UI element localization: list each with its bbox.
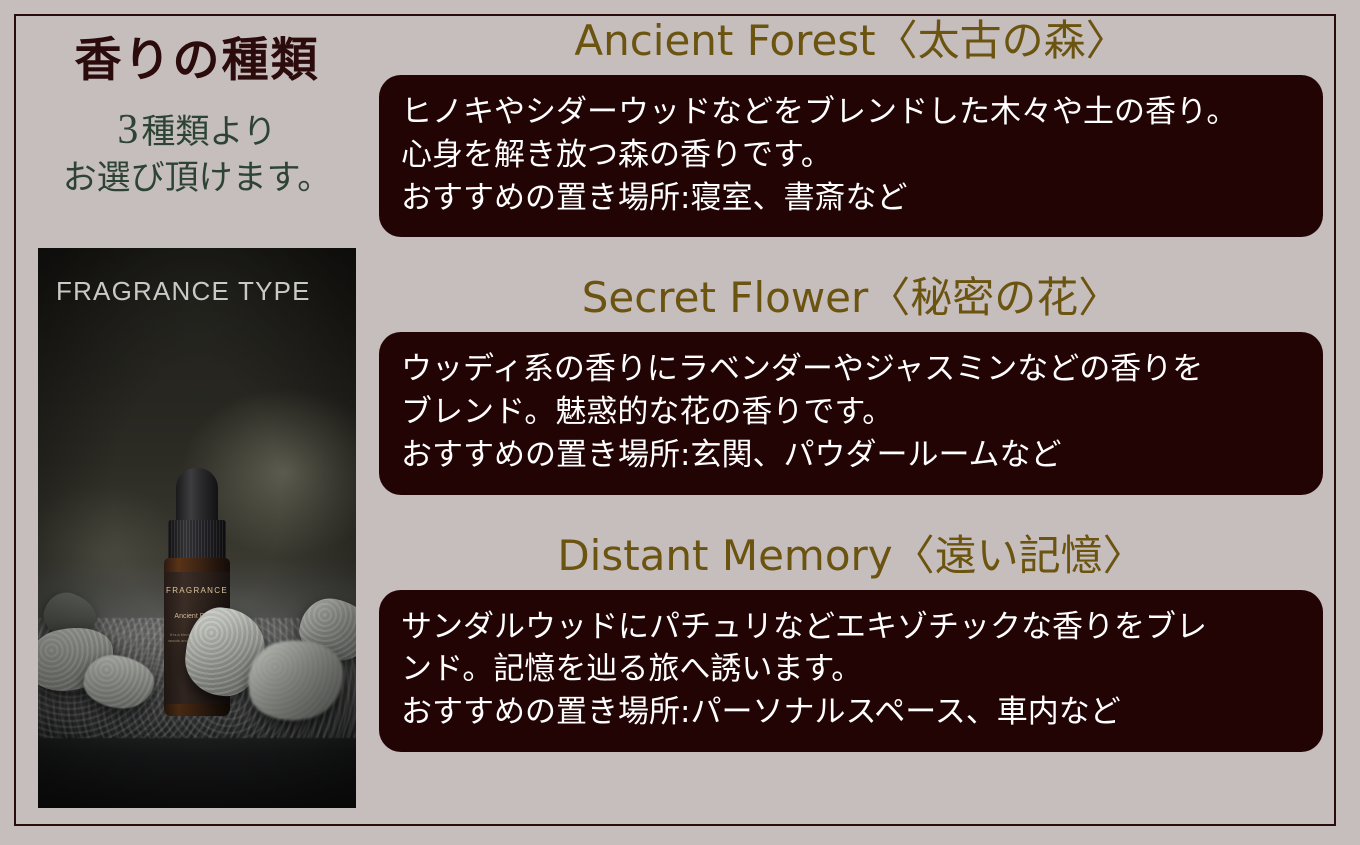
fragrance-heading: Distant Memory〈遠い記憶〉 <box>379 535 1323 577</box>
recommended-placement: おすすめの置き場所:寝室、書斎など <box>401 177 1301 220</box>
recommended-placement: おすすめの置き場所:パーソナルスペース、車内など <box>401 691 1301 734</box>
spacer <box>379 237 1323 277</box>
description-line: ブレンド。魅惑的な花の香りです。 <box>401 391 1301 434</box>
fragrance-type-infographic: 香りの種類 3種類より お選び頂けます。 FRAGRANCE Ancient F… <box>0 0 1360 845</box>
description-line: サンダルウッドにパチュリなどエキゾチックな香りをブレ <box>401 606 1301 649</box>
description-line: ヒノキやシダーウッドなどをブレンドした木々や土の香り。 <box>401 91 1301 134</box>
description-line: ウッディ系の香りにラベンダーやジャスミンなどの香りを <box>401 348 1301 391</box>
fragrance-list: Ancient Forest〈太古の森〉 ヒノキやシダーウッドなどをブレンドした… <box>379 20 1323 752</box>
fragrance-heading: Ancient Forest〈太古の森〉 <box>379 20 1323 62</box>
product-photo: FRAGRANCE Ancient Forest It is a blend o… <box>38 248 356 808</box>
subtitle-line-1: 3種類より <box>22 104 372 157</box>
fragrance-description-box: サンダルウッドにパチュリなどエキゾチックな香りをブレ ンド。記憶を辿る旅へ誘いま… <box>379 590 1323 752</box>
left-column: 香りの種類 3種類より お選び頂けます。 FRAGRANCE Ancient F… <box>22 20 372 820</box>
photo-overlay-label: FRAGRANCE TYPE <box>56 276 311 307</box>
variant-count: 3 <box>117 107 141 153</box>
recommended-placement: おすすめの置き場所:玄関、パウダールームなど <box>401 434 1301 477</box>
fragrance-description-box: ウッディ系の香りにラベンダーやジャスミンなどの香りを ブレンド。魅惑的な花の香り… <box>379 332 1323 494</box>
description-line: ンド。記憶を辿る旅へ誘います。 <box>401 648 1301 691</box>
fragrance-item-secret-flower: Secret Flower〈秘密の花〉 ウッディ系の香りにラベンダーやジャスミン… <box>379 277 1323 494</box>
variant-count-suffix: 種類より <box>141 114 276 151</box>
subtitle-line-2: お選び頂けます。 <box>22 158 372 201</box>
spacer <box>379 495 1323 535</box>
page-title: 香りの種類 <box>22 36 372 88</box>
fragrance-description-box: ヒノキやシダーウッドなどをブレンドした木々や土の香り。 心身を解き放つ森の香りで… <box>379 75 1323 237</box>
fragrance-item-ancient-forest: Ancient Forest〈太古の森〉 ヒノキやシダーウッドなどをブレンドした… <box>379 20 1323 237</box>
photo-vignette <box>38 248 356 808</box>
fragrance-heading: Secret Flower〈秘密の花〉 <box>379 277 1323 319</box>
fragrance-item-distant-memory: Distant Memory〈遠い記憶〉 サンダルウッドにパチュリなどエキゾチッ… <box>379 535 1323 752</box>
description-line: 心身を解き放つ森の香りです。 <box>401 134 1301 177</box>
